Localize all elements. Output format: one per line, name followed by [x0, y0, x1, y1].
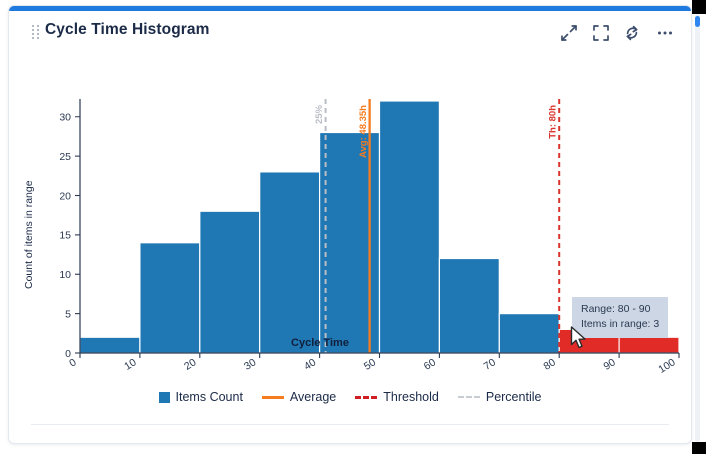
refresh-icon[interactable] — [621, 22, 643, 44]
chart-legend: Items Count Average Threshold Percentile — [9, 384, 691, 410]
window-corner-bottom — [692, 442, 706, 454]
histogram-panel-card: Cycle Time Histogram — [8, 5, 692, 444]
x-tick-label: 30 — [242, 356, 258, 372]
x-axis-label: Cycle Time — [291, 337, 349, 349]
y-tick-label: 15 — [59, 230, 71, 242]
legend-percentile[interactable]: Percentile — [458, 390, 542, 404]
window-corner-top — [692, 0, 706, 14]
x-tick-label: 90 — [601, 356, 617, 372]
collapse-icon[interactable] — [558, 22, 580, 44]
histogram-bar[interactable] — [260, 172, 320, 353]
legend-line-icon — [262, 396, 284, 399]
legend-square-icon — [159, 392, 170, 403]
scrollbar-thumb[interactable] — [695, 16, 700, 27]
x-axis-ticks: 0102030405060708090100 — [67, 353, 679, 376]
chart-svg: 25%Avg: 48.35hTh: 80h 010203040506070809… — [9, 59, 691, 399]
x-tick-label: 70 — [482, 356, 498, 372]
threshold-line-label: Th: 80h — [548, 105, 559, 139]
y-tick-label: 10 — [59, 269, 71, 281]
histogram-bar[interactable] — [619, 337, 679, 353]
more-icon[interactable] — [654, 22, 676, 44]
percentile-line-label: 25% — [314, 104, 325, 124]
x-tick-label: 60 — [422, 356, 438, 372]
average-line-label: Avg: 48.35h — [358, 105, 369, 158]
expand-icon[interactable] — [590, 22, 612, 44]
x-tick-label: 20 — [182, 356, 198, 372]
panel-divider — [31, 424, 669, 425]
panel-header: Cycle Time Histogram — [9, 11, 691, 59]
histogram-chart[interactable]: 25%Avg: 48.35hTh: 80h 010203040506070809… — [9, 59, 691, 399]
x-tick-label: 100 — [656, 356, 677, 376]
legend-label: Threshold — [383, 390, 439, 404]
scrollbar-track[interactable] — [695, 14, 700, 442]
legend-label: Items Count — [176, 390, 243, 404]
legend-label: Average — [290, 390, 336, 404]
histogram-bar[interactable] — [559, 329, 619, 353]
x-tick-label: 80 — [542, 356, 558, 372]
x-tick-label: 10 — [122, 356, 138, 372]
x-tick-label: 50 — [362, 356, 378, 372]
y-tick-label: 25 — [59, 151, 71, 163]
histogram-bar[interactable] — [439, 259, 499, 354]
histogram-bar[interactable] — [80, 337, 140, 353]
histogram-bar[interactable] — [499, 314, 559, 353]
legend-dotted-line-icon — [458, 396, 480, 398]
y-tick-label: 5 — [65, 308, 71, 320]
legend-threshold[interactable]: Threshold — [355, 390, 439, 404]
legend-dashed-line-icon — [355, 396, 377, 399]
legend-items-count[interactable]: Items Count — [159, 390, 243, 404]
y-tick-label: 0 — [65, 348, 71, 360]
page-title: Cycle Time Histogram — [45, 21, 210, 39]
y-tick-label: 20 — [59, 190, 71, 202]
histogram-bar[interactable] — [140, 243, 200, 353]
x-tick-label: 40 — [302, 356, 318, 372]
legend-average[interactable]: Average — [262, 390, 336, 404]
bar-series-items-count — [80, 101, 679, 353]
y-tick-label: 30 — [59, 112, 71, 124]
histogram-bar[interactable] — [200, 211, 260, 353]
drag-handle[interactable] — [32, 25, 39, 41]
histogram-bar[interactable] — [380, 101, 440, 353]
y-axis-label: Count of items in range — [23, 180, 35, 289]
y-axis-ticks: 051015202530 — [59, 112, 80, 360]
legend-label: Percentile — [486, 390, 542, 404]
